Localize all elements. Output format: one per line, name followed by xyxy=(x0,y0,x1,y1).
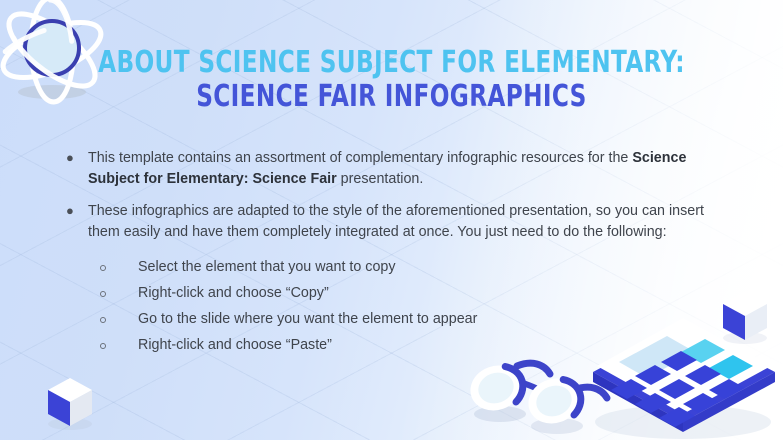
bullet-text: This template contains an assortment of … xyxy=(88,148,717,189)
isometric-cube xyxy=(715,286,775,348)
hollow-circle-icon xyxy=(100,282,138,305)
title-line-primary: About Science Subject for Elementary: xyxy=(55,46,728,80)
hollow-circle-icon xyxy=(100,256,138,279)
instruction-list: Select the element that you want to copy… xyxy=(100,256,717,357)
list-item: Right-click and choose “Paste” xyxy=(100,334,717,357)
list-item-label: Right-click and choose “Paste” xyxy=(138,334,717,356)
isometric-cube xyxy=(40,372,100,434)
list-item-label: Right-click and choose “Copy” xyxy=(138,282,717,304)
list-item-label: Go to the slide where you want the eleme… xyxy=(138,308,717,330)
title-line-secondary: Science Fair Infographics xyxy=(55,80,728,114)
list-item: Go to the slide where you want the eleme… xyxy=(100,308,717,331)
list-item-label: Select the element that you want to copy xyxy=(138,256,717,278)
body-content: ● This template contains an assortment o… xyxy=(62,148,717,360)
bullet-dot-icon: ● xyxy=(62,148,88,168)
list-item: Right-click and choose “Copy” xyxy=(100,282,717,305)
slide-canvas: About Science Subject for Elementary: Sc… xyxy=(0,0,783,440)
bullet-text-lead: This template contains an assortment of … xyxy=(88,150,632,166)
page-title: About Science Subject for Elementary: Sc… xyxy=(0,46,783,114)
bullet-dot-icon: ● xyxy=(62,201,88,221)
bullet-item: ● This template contains an assortment o… xyxy=(62,148,717,189)
bullet-item: ● These infographics are adapted to the … xyxy=(62,201,717,242)
bullet-text: These infographics are adapted to the st… xyxy=(88,201,717,242)
list-item: Select the element that you want to copy xyxy=(100,256,717,279)
bullet-text-tail: presentation. xyxy=(337,171,424,187)
hollow-circle-icon xyxy=(100,334,138,357)
hollow-circle-icon xyxy=(100,308,138,331)
